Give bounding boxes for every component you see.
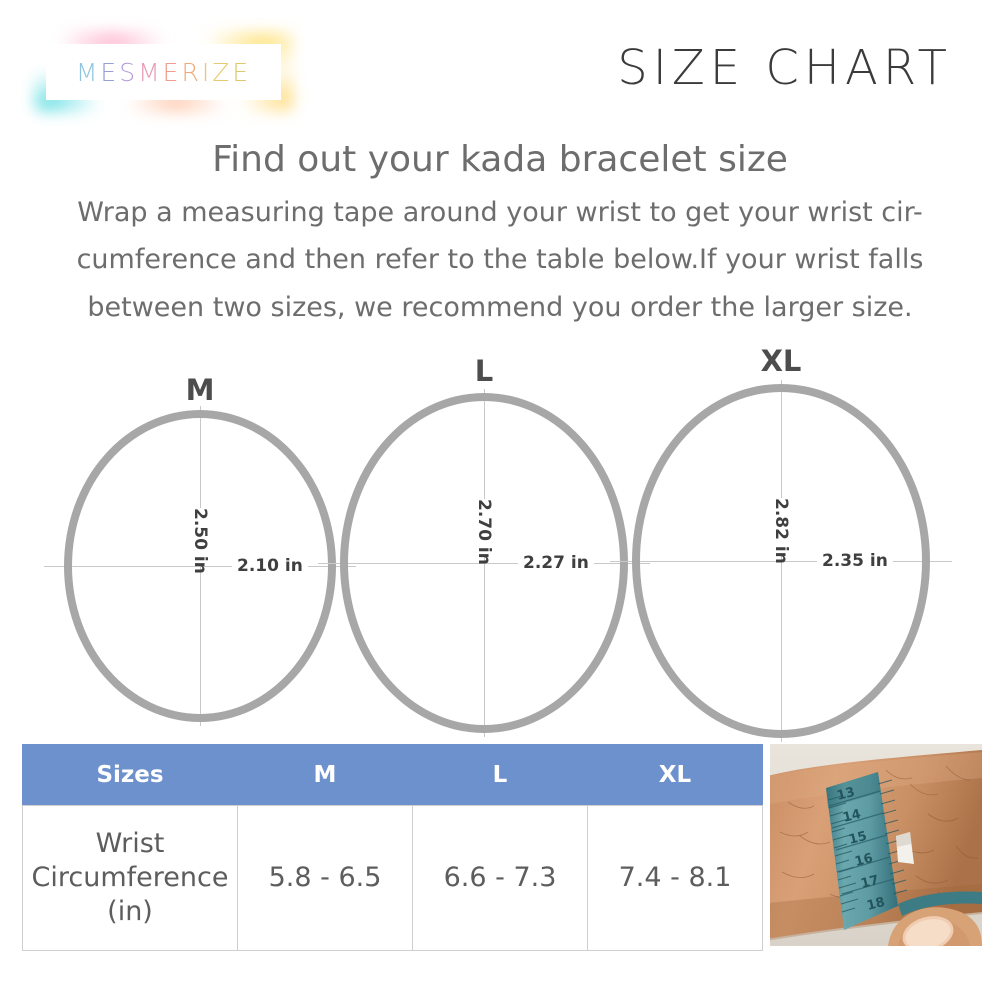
oval-height-dimension: 2.70 in (470, 499, 498, 555)
logo-letter: Z (212, 58, 232, 87)
page-header: MESMERIZE SIZE CHART (0, 0, 1000, 130)
oval-size-label: M (186, 373, 215, 407)
intro-body-line: Wrap a measuring tape around your wrist … (45, 189, 955, 236)
oval-diagram-xl: XL 2.82 in 2.35 in (632, 384, 930, 738)
logo-wordmark: MESMERIZE (76, 58, 251, 87)
oval-height-dimension: 2.82 in (767, 498, 795, 554)
page-title: SIZE CHART (617, 40, 952, 96)
intro-body: Wrap a measuring tape around your wrist … (45, 189, 955, 331)
logo-letter: E (100, 58, 119, 87)
row-label-wrist-circumference: Wrist Circumference (in) (23, 806, 238, 951)
intro-body-line: between two sizes, we recommend you orde… (45, 284, 955, 331)
oval-width-dimension: 2.10 in (232, 556, 308, 576)
row-label-line: (in) (24, 895, 236, 929)
oval-size-label: XL (761, 344, 802, 378)
oval-diagram-m: M 2.50 in 2.10 in (64, 410, 336, 722)
logo-box: MESMERIZE (46, 44, 281, 100)
logo-letter: R (181, 58, 201, 87)
oval-height-dimension: 2.50 in (186, 508, 214, 564)
brand-logo: MESMERIZE (46, 44, 281, 100)
table-header-cell-l: L (413, 745, 588, 806)
wrist-measuring-photo: 13 14 15 16 17 18 (770, 744, 982, 946)
oval-width-dimension: 2.27 in (518, 553, 594, 573)
table-header-row: Sizes M L XL (23, 745, 763, 806)
bracelet-size-diagrams: M 2.50 in 2.10 in L 2.70 in 2.27 in XL 2… (0, 345, 1000, 740)
table-cell-m: 5.8 - 6.5 (238, 806, 413, 951)
table-header-cell-m: M (238, 745, 413, 806)
intro-section: Find out your kada bracelet size Wrap a … (0, 138, 1000, 331)
logo-letter: S (119, 58, 138, 87)
logo-letter: I (202, 58, 212, 87)
logo-letter: E (163, 58, 182, 87)
oval-diagram-l: L 2.70 in 2.27 in (340, 393, 628, 733)
table-row: Wrist Circumference (in) 5.8 - 6.5 6.6 -… (23, 806, 763, 951)
oval-size-label: L (475, 354, 493, 388)
row-label-line: Wrist (24, 827, 236, 861)
oval-width-dimension: 2.35 in (817, 551, 893, 571)
intro-heading: Find out your kada bracelet size (0, 138, 1000, 181)
size-table-body: Wrist Circumference (in) 5.8 - 6.5 6.6 -… (23, 806, 763, 951)
size-table: Sizes M L XL Wrist Circumference (in) 5.… (22, 744, 763, 951)
size-table-head: Sizes M L XL (23, 745, 763, 806)
table-cell-xl: 7.4 - 8.1 (588, 806, 763, 951)
logo-letter: M (138, 58, 163, 87)
logo-letter: M (76, 58, 101, 87)
logo-letter: E (232, 58, 251, 87)
intro-body-line: cumference and then refer to the table b… (45, 236, 955, 283)
table-cell-l: 6.6 - 7.3 (413, 806, 588, 951)
wrist-photo-illustration: 13 14 15 16 17 18 (770, 744, 982, 946)
table-header-cell-xl: XL (588, 745, 763, 806)
row-label-line: Circumference (24, 861, 236, 895)
table-header-cell-sizes: Sizes (23, 745, 238, 806)
